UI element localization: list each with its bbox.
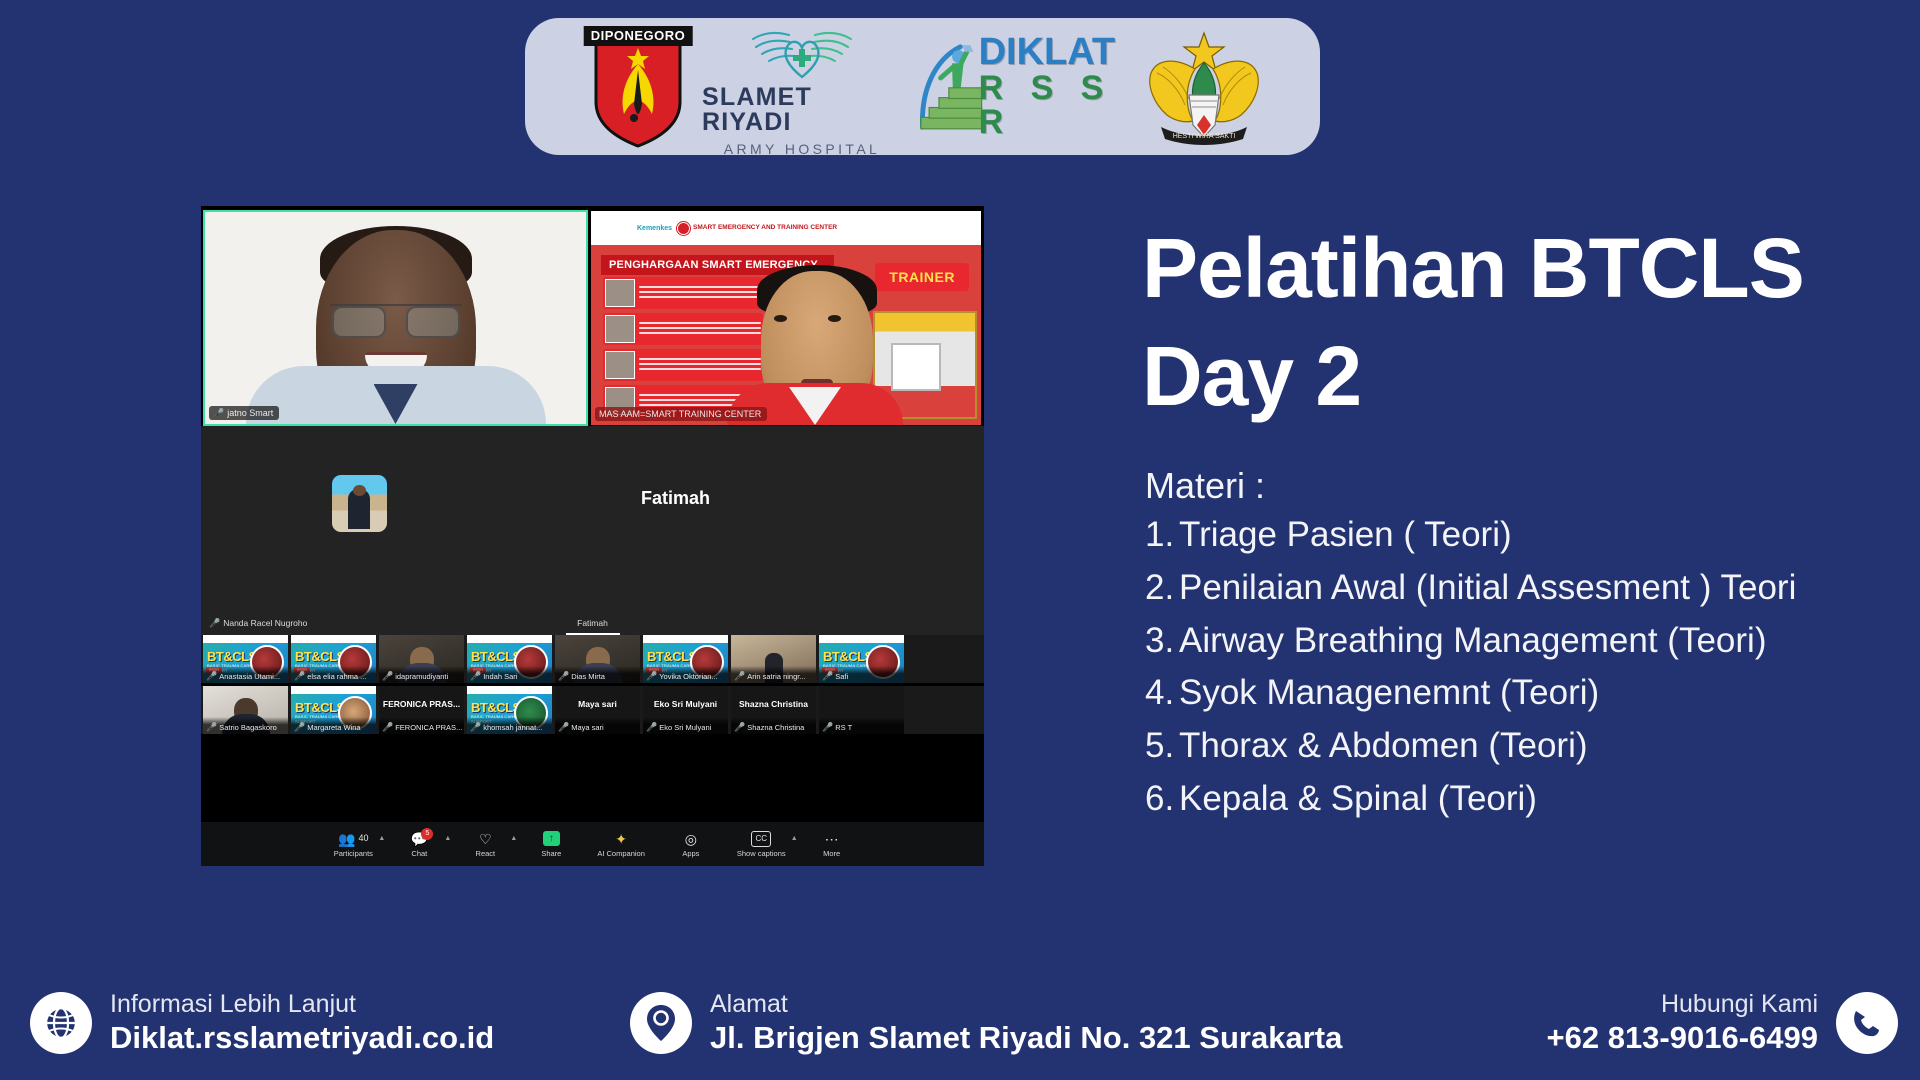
- footer-contact-text: Hubungi Kami +62 813-9016-6499: [1547, 990, 1819, 1056]
- award-item: [603, 277, 763, 309]
- stage-footer: 🎤 Nanda Racel Nugroho Fatimah: [201, 611, 984, 635]
- participant-strip-row-1[interactable]: BT&CLS BASIC TRAUMA CARDIAC LIFE SUPPORT…: [201, 635, 984, 683]
- closed-caption-icon: CC: [751, 831, 771, 847]
- participant-name-tag: 🎤 Anastasia Utami...: [203, 666, 288, 683]
- participant-name-tag: 🎤 RS T: [819, 717, 904, 734]
- react-button[interactable]: ♡ ▲ React: [465, 831, 505, 858]
- award-photo: [605, 315, 635, 343]
- participant-name: Arin satria ningr...: [747, 672, 805, 681]
- mic-muted-icon: 🎤: [470, 672, 481, 681]
- more-button[interactable]: ⋯ More: [812, 831, 852, 858]
- react-label: React: [476, 849, 496, 858]
- chevron-up-icon[interactable]: ▲: [791, 835, 798, 842]
- poster-root: DIPONEGORO: [0, 0, 1920, 1080]
- participant-name-tag: 🎤 idapramudiyanti: [379, 666, 464, 683]
- spotlight-stage: Fatimah: [201, 426, 984, 611]
- award-photo: [605, 279, 635, 307]
- diponegoro-label: DIPONEGORO: [584, 26, 693, 46]
- participant-name-tag: 🎤 Maya sari: [555, 717, 640, 734]
- participant-strip-row-2[interactable]: 🎤 Satrio Bagaskoro BT&CLS BASIC TRAUMA C…: [201, 686, 984, 734]
- captions-button[interactable]: CC ▲ Show captions: [737, 831, 786, 858]
- kemenkes-label: Kemenkes: [637, 225, 672, 232]
- list-item-number: 6.: [1145, 777, 1179, 822]
- list-item[interactable]: Eko Sri Mulyani 🎤 Eko Sri Mulyani: [643, 686, 728, 734]
- participant-name: Safi: [835, 672, 848, 681]
- award-item: [603, 313, 763, 345]
- more-label: More: [823, 849, 840, 858]
- participant-name: Yovika Oktorian...: [659, 672, 718, 681]
- share-screen-icon: ↑: [543, 831, 560, 846]
- participant-display-name: FERONICA PRAS...: [379, 699, 464, 709]
- virtual-bg-header: Kemenkes SMART EMERGENCY AND TRAINING CE…: [591, 211, 981, 245]
- participant-name-tag: 🎤 Yovika Oktorian...: [643, 666, 728, 683]
- list-item: 4. Syok Managenemnt (Teori): [1145, 671, 1920, 716]
- participants-icon: 👥40: [338, 831, 368, 847]
- participant-name-tag: 🎤 Margareta Wina: [291, 717, 376, 734]
- mic-muted-icon: 🎤: [382, 723, 393, 732]
- mic-muted-icon: 🎤: [206, 672, 217, 681]
- glasses-icon: [330, 304, 462, 334]
- participant-name: MAS AAM=SMART TRAINING CENTER: [599, 409, 761, 419]
- participant-name: khomsah jannat...: [483, 723, 542, 732]
- list-item: 3. Airway Breathing Management (Teori): [1145, 619, 1920, 664]
- location-pin-icon-circle: [630, 992, 692, 1054]
- materi-label: Materi :: [1145, 465, 1265, 507]
- mic-muted-icon: 🎤: [734, 723, 745, 732]
- list-item[interactable]: BT&CLS BASIC TRAUMA CARDIAC LIFE SUPPORT…: [291, 635, 376, 683]
- heart-icon: ♡: [479, 831, 492, 847]
- participant-name-tag: 🎤 Dias Mirta: [555, 666, 640, 683]
- footer-address-value: Jl. Brigjen Slamet Riyadi No. 321 Suraka…: [710, 1019, 1342, 1056]
- phone-icon: [1850, 1006, 1884, 1040]
- participant-name: Margareta Wina: [307, 723, 360, 732]
- participant-name-tag: 🎤 Shazna Christina: [731, 717, 816, 734]
- diklat-figure-steps-icon: [916, 32, 987, 142]
- chat-label: Chat: [411, 849, 427, 858]
- participants-button[interactable]: 👥40 ▲ Participants: [333, 831, 373, 858]
- footer-info-caption: Informasi Lebih Lanjut: [110, 990, 494, 1019]
- setc-badge: SMART EMERGENCY AND TRAINING CENTER: [677, 222, 837, 235]
- award-item: [603, 349, 763, 381]
- list-item[interactable]: 🎤 RS T: [819, 686, 904, 734]
- diklat-title: DIKLAT: [979, 34, 1131, 70]
- mic-muted-icon: 🎤: [206, 723, 217, 732]
- slamet-riyadi-title: SLAMET RIYADI: [702, 85, 902, 135]
- participant-name: Indah Sari: [483, 672, 517, 681]
- list-item: 2. Penilaian Awal (Initial Assesment ) T…: [1145, 566, 1920, 611]
- mic-muted-icon: 🎤: [294, 672, 305, 681]
- participant-name: Satrio Bagaskoro: [219, 723, 277, 732]
- participant-name: idapramudiyanti: [395, 672, 448, 681]
- chevron-up-icon[interactable]: ▲: [510, 835, 517, 842]
- more-icon: ⋯: [825, 831, 839, 847]
- list-item[interactable]: BT&CLS BASIC TRAUMA CARDIAC LIFE SUPPORT…: [467, 635, 552, 683]
- mic-muted-icon: 🎤: [822, 723, 833, 732]
- participant-name-tag: 🎤 Arin satria ningr...: [731, 666, 816, 683]
- participant-name: RS T: [835, 723, 852, 732]
- garuda-motto: HESTI WIRA SAKTI: [1173, 133, 1236, 140]
- apps-button[interactable]: ◎ Apps: [671, 831, 711, 858]
- award-text-lines: [639, 358, 761, 373]
- list-item: 1. Triage Pasien ( Teori): [1145, 513, 1920, 558]
- speaker-row: 🎤 jatno Smart Kemenkes SMART EMERGENCY A…: [201, 206, 984, 426]
- logo-banner: DIPONEGORO: [525, 18, 1320, 155]
- participants-label: Participants: [334, 849, 373, 858]
- trainer-badge: TRAINER: [875, 263, 969, 291]
- video-tile-speaker-1[interactable]: 🎤 jatno Smart: [203, 210, 588, 426]
- mic-muted-icon: 🎤: [558, 672, 569, 681]
- participant-name: Maya sari: [571, 723, 604, 732]
- emergency-star-icon: [677, 222, 690, 235]
- list-item-number: 5.: [1145, 724, 1179, 769]
- diklat-rssr-logo: DIKLAT R S S R: [916, 32, 1131, 142]
- winged-heart-cross-icon: [749, 17, 855, 83]
- participant-name: FERONICA PRAS...: [395, 723, 462, 732]
- stage-left-name: 🎤 Nanda Racel Nugroho: [209, 618, 307, 628]
- diponegoro-shield-logo: DIPONEGORO: [582, 26, 688, 148]
- list-item[interactable]: 🎤 Arin satria ningr...: [731, 635, 816, 683]
- chat-unread-badge: 5: [421, 828, 433, 840]
- globe-icon-circle: [30, 992, 92, 1054]
- footer-address-text: Alamat Jl. Brigjen Slamet Riyadi No. 321…: [710, 990, 1342, 1056]
- award-text-lines: [639, 286, 761, 301]
- list-item[interactable]: BT&CLS BASIC TRAUMA CARDIAC LIFE SUPPORT…: [819, 635, 904, 683]
- materi-list: 1. Triage Pasien ( Teori) 2. Penilaian A…: [1145, 513, 1920, 830]
- share-label: Share: [541, 849, 561, 858]
- list-item[interactable]: BT&CLS BASIC TRAUMA CARDIAC LIFE SUPPORT…: [291, 686, 376, 734]
- participant-name-tag: MAS AAM=SMART TRAINING CENTER: [595, 407, 767, 421]
- video-tile-speaker-2[interactable]: Kemenkes SMART EMERGENCY AND TRAINING CE…: [590, 210, 982, 426]
- apps-icon: ◎: [685, 831, 697, 847]
- footer-address-caption: Alamat: [710, 990, 1342, 1019]
- garuda-emblem-icon: HESTI WIRA SAKTI: [1145, 29, 1263, 145]
- chevron-up-icon[interactable]: ▲: [444, 835, 451, 842]
- participant-name-tag: 🎤 elsa elia rahma ...: [291, 666, 376, 683]
- participant-name: Eko Sri Mulyani: [659, 723, 711, 732]
- list-item-label: Kepala & Spinal (Teori): [1179, 777, 1537, 822]
- page-title: Pelatihan BTCLS Day 2: [1142, 215, 1902, 430]
- footer-contact-block: Hubungi Kami +62 813-9016-6499: [1547, 990, 1899, 1056]
- mic-muted-icon: 🎤: [294, 723, 305, 732]
- list-item[interactable]: Maya sari 🎤 Maya sari: [555, 686, 640, 734]
- mic-muted-icon: 🎤: [213, 409, 224, 418]
- list-item[interactable]: Shazna Christina 🎤 Shazna Christina: [731, 686, 816, 734]
- participant-name-tag: 🎤 Indah Sari: [467, 666, 552, 683]
- participant-name-tag: 🎤 Safi: [819, 666, 904, 683]
- slamet-riyadi-subtitle: ARMY HOSPITAL: [724, 141, 881, 157]
- avatar: [332, 475, 387, 532]
- location-pin-icon: [644, 1003, 678, 1043]
- list-item[interactable]: BT&CLS BASIC TRAUMA CARDIAC LIFE SUPPORT…: [643, 635, 728, 683]
- share-screen-button[interactable]: ↑ Share: [531, 831, 571, 858]
- list-item-label: Triage Pasien ( Teori): [1179, 513, 1512, 558]
- list-item-label: Penilaian Awal (Initial Assesment ) Teor…: [1179, 566, 1796, 611]
- hesti-wira-sakti-garuda-logo: HESTI WIRA SAKTI: [1145, 29, 1263, 145]
- footer-info-text: Informasi Lebih Lanjut Diklat.rsslametri…: [110, 990, 494, 1056]
- award-photo: [605, 351, 635, 379]
- participant-name: Nanda Racel Nugroho: [223, 618, 307, 628]
- participant-name-tag: 🎤 Eko Sri Mulyani: [643, 717, 728, 734]
- zoom-toolbar[interactable]: 👥40 ▲ Participants 💬 5 ▲ Chat ♡ ▲ React …: [201, 822, 984, 866]
- mic-muted-icon: 🎤: [646, 672, 657, 681]
- eye-shape: [774, 315, 787, 322]
- spotlight-participant-name: Fatimah: [641, 488, 710, 509]
- mic-muted-icon: 🎤: [470, 723, 481, 732]
- list-item[interactable]: 🎤 idapramudiyanti: [379, 635, 464, 683]
- participant-name: Shazna Christina: [747, 723, 804, 732]
- mic-muted-icon: 🎤: [382, 672, 393, 681]
- footer: Informasi Lebih Lanjut Diklat.rsslametri…: [0, 960, 1920, 1080]
- participant-name-tag: 🎤 FERONICA PRAS...: [379, 717, 464, 734]
- participant-name: Dias Mirta: [571, 672, 605, 681]
- ai-companion-button[interactable]: ✦ AI Companion: [597, 831, 645, 858]
- ai-companion-label: AI Companion: [597, 849, 645, 858]
- list-item[interactable]: BT&CLS BASIC TRAUMA CARDIAC LIFE SUPPORT…: [467, 686, 552, 734]
- globe-icon: [43, 1005, 79, 1041]
- participant-name-tag: 🎤 Satrio Bagaskoro: [203, 717, 288, 734]
- participant-display-name: Eko Sri Mulyani: [643, 699, 728, 709]
- eye-shape: [828, 315, 841, 322]
- list-item-number: 1.: [1145, 513, 1179, 558]
- mic-muted-icon: 🎤: [646, 723, 657, 732]
- participant-display-name: Maya sari: [555, 699, 640, 709]
- list-item[interactable]: 🎤 Satrio Bagaskoro: [203, 686, 288, 734]
- setc-title: SMART EMERGENCY AND TRAINING CENTER: [693, 224, 837, 231]
- mic-muted-icon: 🎤: [558, 723, 569, 732]
- participant-name: elsa elia rahma ...: [307, 672, 366, 681]
- list-item: 6. Kepala & Spinal (Teori): [1145, 777, 1920, 822]
- chevron-up-icon[interactable]: ▲: [378, 835, 385, 842]
- mic-muted-icon: 🎤: [734, 672, 745, 681]
- list-item-number: 3.: [1145, 619, 1179, 664]
- stage-center-name: Fatimah: [577, 618, 608, 628]
- chat-button[interactable]: 💬 5 ▲ Chat: [399, 831, 439, 858]
- phone-icon-circle: [1836, 992, 1898, 1054]
- sparkle-icon: ✦: [615, 831, 627, 847]
- participant-name-tag: 🎤 jatno Smart: [209, 406, 279, 420]
- footer-contact-value[interactable]: +62 813-9016-6499: [1547, 1019, 1819, 1056]
- participant-name: jatno Smart: [227, 408, 273, 418]
- apps-label: Apps: [682, 849, 699, 858]
- footer-address-block: Alamat Jl. Brigjen Slamet Riyadi No. 321…: [630, 990, 1342, 1056]
- participant-name: Anastasia Utami...: [219, 672, 280, 681]
- participant-display-name: Shazna Christina: [731, 699, 816, 709]
- mic-muted-icon: 🎤: [822, 672, 833, 681]
- captions-label: Show captions: [737, 849, 786, 858]
- participants-count: 40: [359, 834, 369, 843]
- list-item: 5. Thorax & Abdomen (Teori): [1145, 724, 1920, 769]
- list-item-number: 4.: [1145, 671, 1179, 716]
- footer-info-block: Informasi Lebih Lanjut Diklat.rsslametri…: [30, 990, 494, 1056]
- list-item-label: Syok Managenemnt (Teori): [1179, 671, 1599, 716]
- award-text-lines: [639, 322, 761, 337]
- footer-contact-caption: Hubungi Kami: [1547, 990, 1819, 1019]
- list-item-number: 2.: [1145, 566, 1179, 611]
- list-item[interactable]: BT&CLS BASIC TRAUMA CARDIAC LIFE SUPPORT…: [203, 635, 288, 683]
- zoom-meeting-screenshot: 🎤 jatno Smart Kemenkes SMART EMERGENCY A…: [201, 206, 984, 866]
- footer-info-value[interactable]: Diklat.rsslametriyadi.co.id: [110, 1019, 494, 1056]
- list-item-label: Thorax & Abdomen (Teori): [1179, 724, 1588, 769]
- mic-muted-icon: 🎤: [209, 619, 220, 628]
- list-item[interactable]: FERONICA PRAS... 🎤 FERONICA PRAS...: [379, 686, 464, 734]
- slamet-riyadi-logo: SLAMET RIYADI ARMY HOSPITAL: [702, 17, 902, 157]
- list-item[interactable]: 🎤 Dias Mirta: [555, 635, 640, 683]
- list-item-label: Airway Breathing Management (Teori): [1179, 619, 1766, 664]
- participant-name-tag: 🎤 khomsah jannat...: [467, 717, 552, 734]
- rssr-subtitle: R S S R: [979, 71, 1131, 139]
